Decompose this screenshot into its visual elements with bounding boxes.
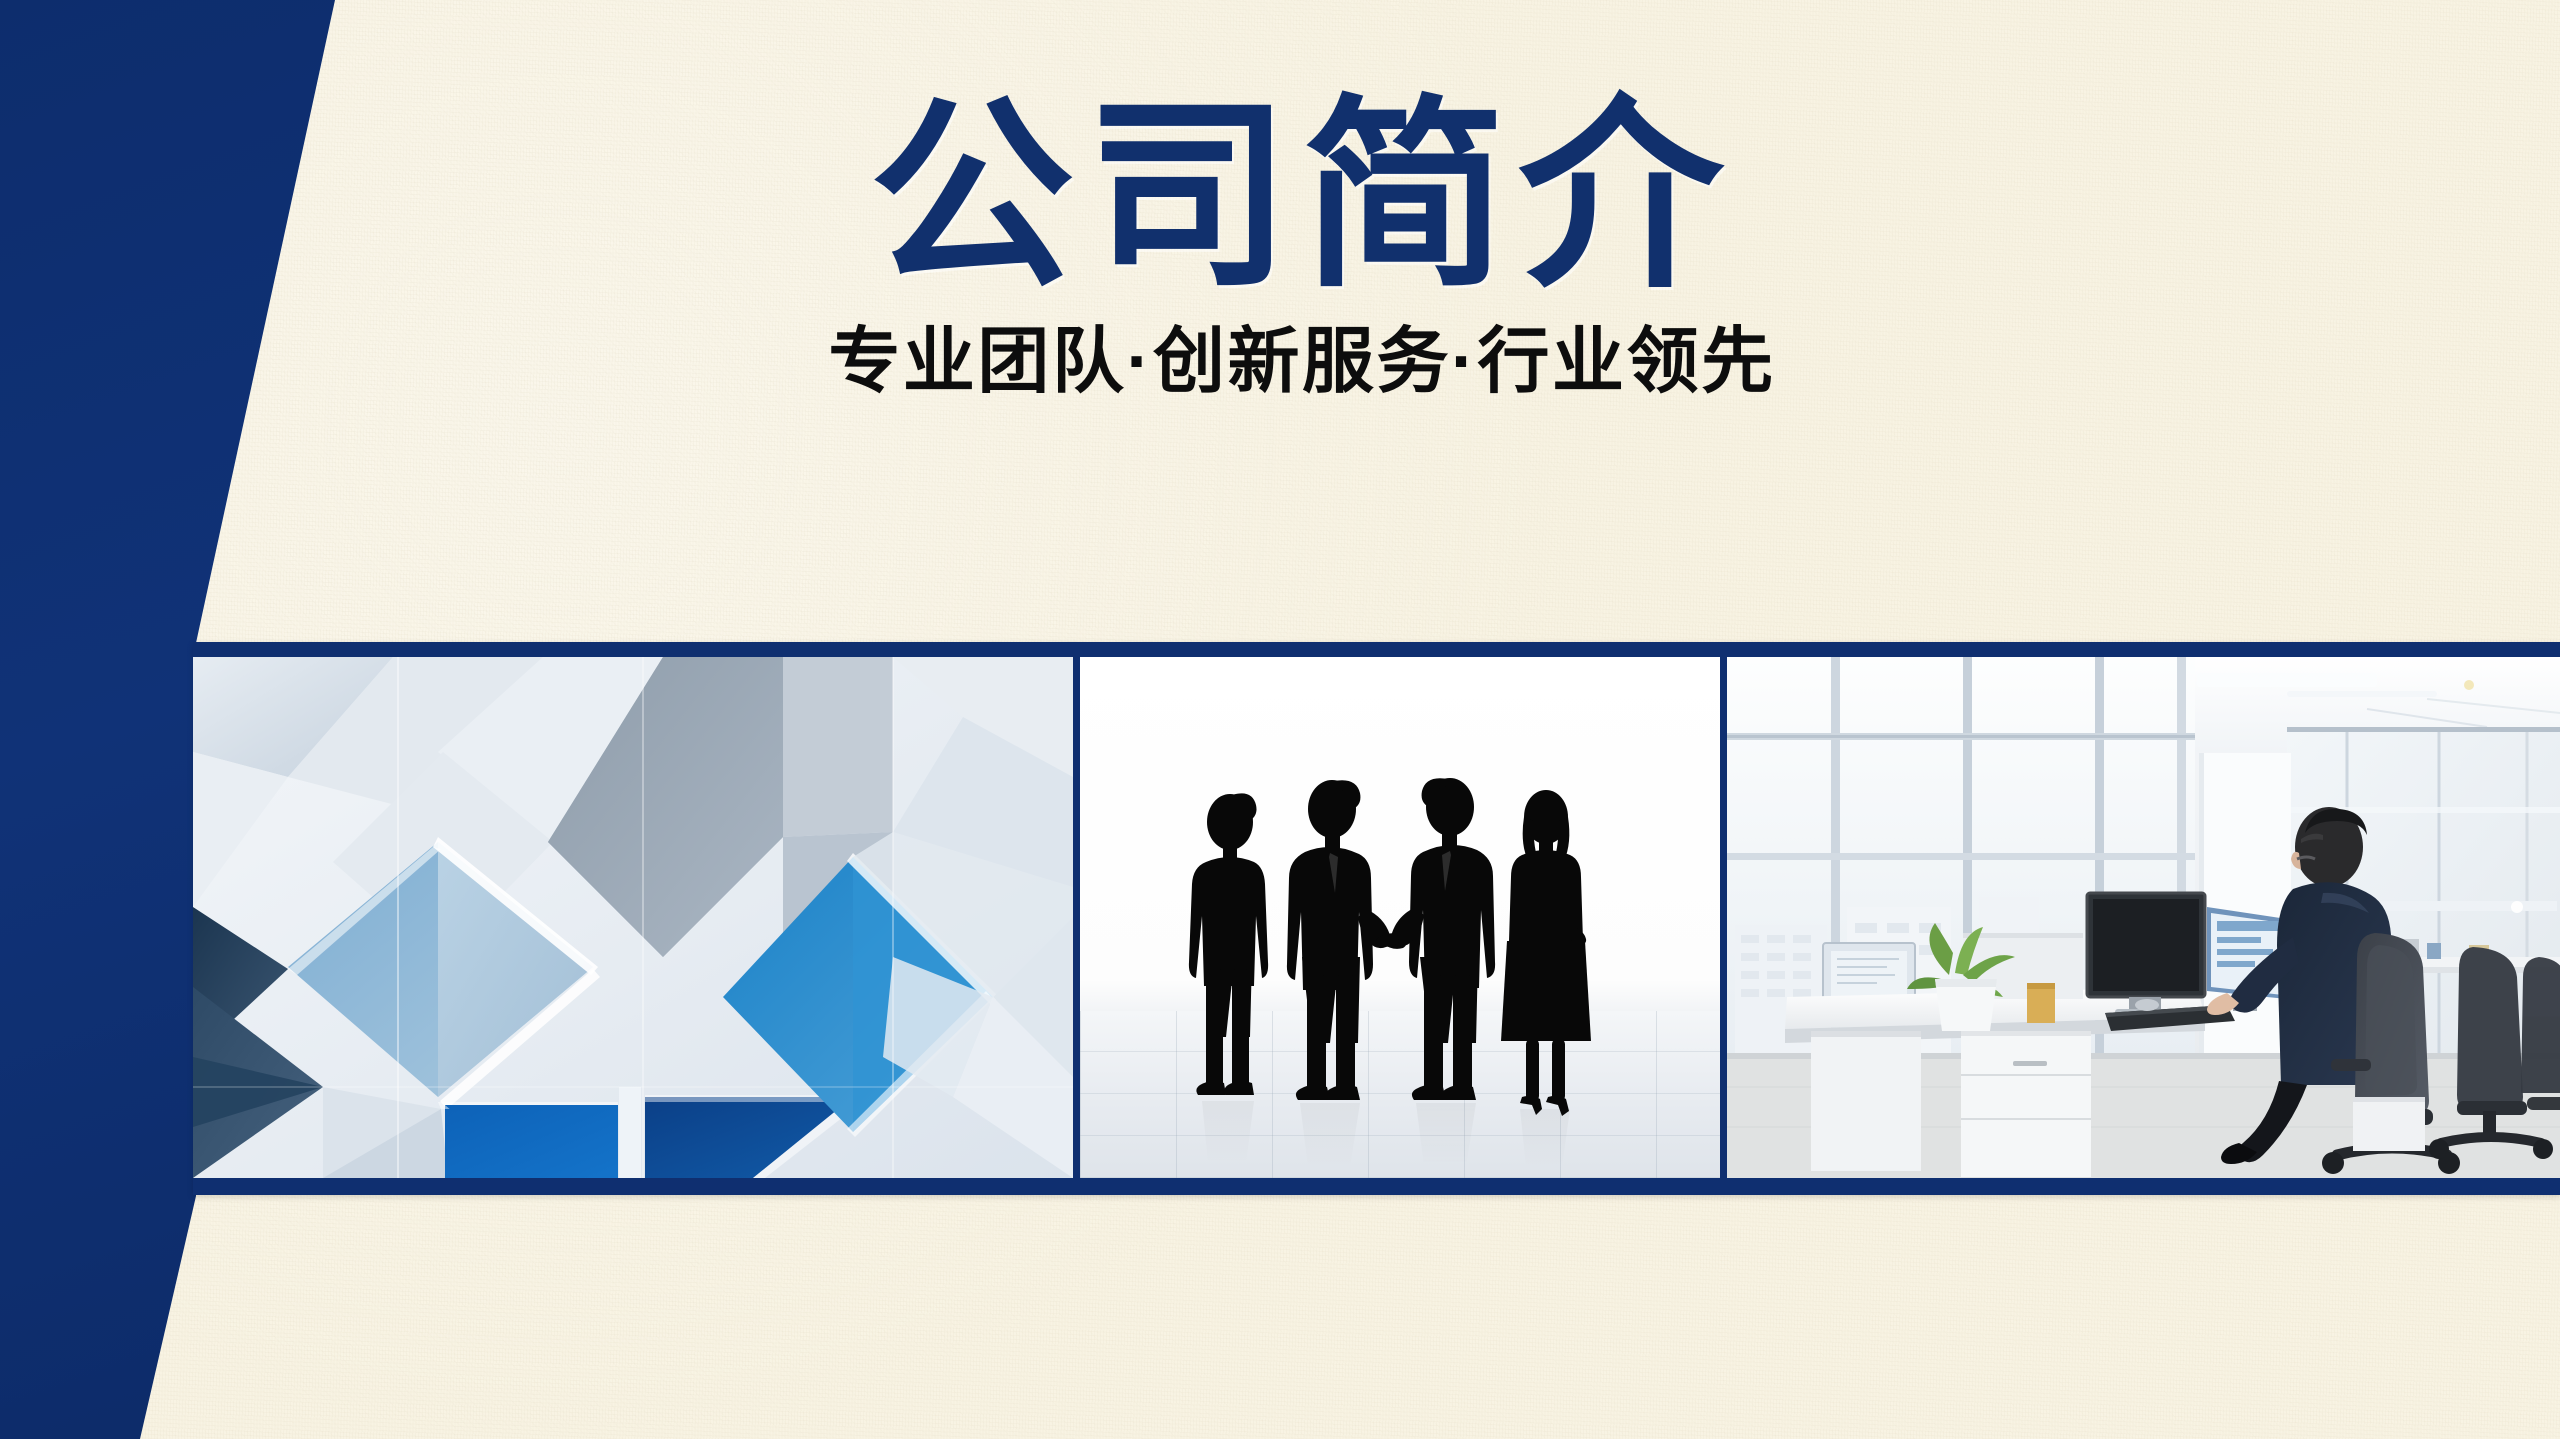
page-title: 公司简介 (0, 92, 2560, 301)
silhouette-person-1 (1189, 793, 1268, 1095)
image-band-inner (193, 657, 2560, 1178)
panel-office-photo (1727, 657, 2560, 1178)
slide-canvas: 公司简介 专业团队·创新服务·行业领先 (0, 0, 2560, 1439)
panel-team-silhouettes (1080, 657, 1720, 1178)
team-silhouette-artwork (1080, 657, 1720, 1178)
silhouette-person-4 (1501, 790, 1591, 1116)
image-band (193, 642, 2560, 1195)
page-subtitle: 专业团队·创新服务·行业领先 (0, 323, 2560, 402)
office-chair-3 (2521, 957, 2560, 1110)
title-block: 公司简介 专业团队·创新服务·行业领先 (0, 92, 2560, 402)
silhouette-person-3 (1376, 778, 1495, 1100)
geometric-diamond-artwork (193, 657, 1073, 1178)
panel-geometric-pattern (193, 657, 1073, 1178)
silhouette-reflections (1202, 1101, 1570, 1167)
office-scene-artwork (1727, 657, 2560, 1178)
